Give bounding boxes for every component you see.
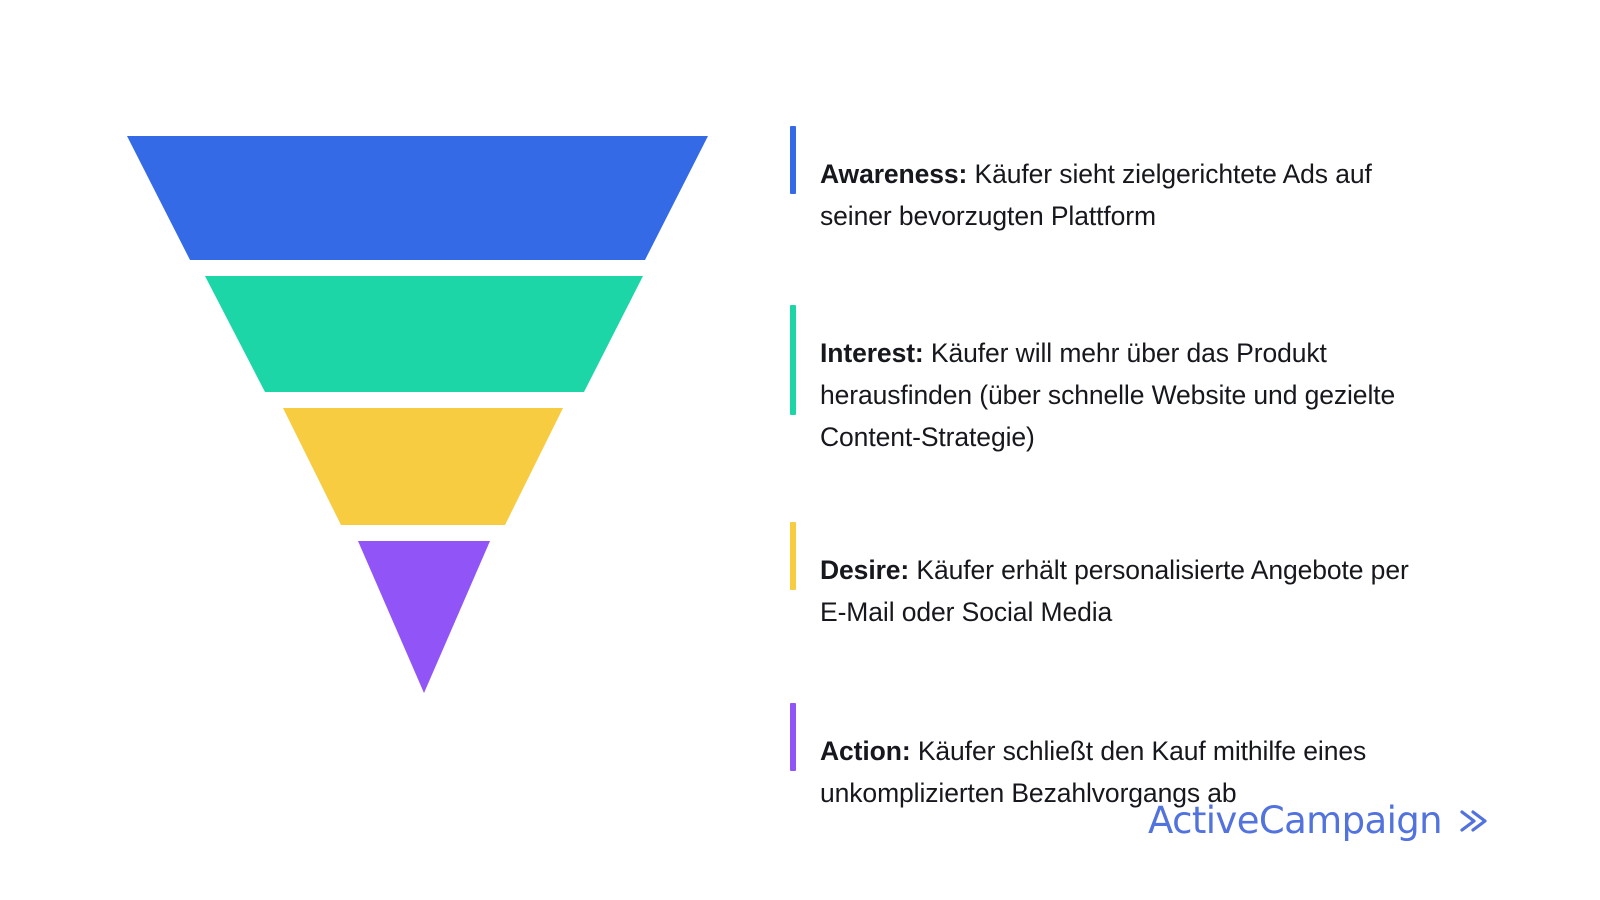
legend-lead-awareness: Awareness:	[820, 159, 967, 189]
legend-accent-bar-desire	[790, 522, 796, 590]
legend-lead-desire: Desire:	[820, 555, 909, 585]
legend-text-interest: Interest: Käufer will mehr über das Prod…	[820, 332, 1430, 458]
legend-accent-bar-action	[790, 703, 796, 771]
funnel-segment-interest	[205, 276, 643, 392]
legend-item-desire: Desire: Käufer erhält personalisierte An…	[790, 522, 1490, 659]
legend-list: Awareness: Käufer sieht zielgerichtete A…	[790, 126, 1490, 840]
brand-logo: ActiveCampaign	[1148, 799, 1490, 842]
funnel-segment-action	[358, 541, 490, 693]
funnel-graphic	[90, 110, 750, 720]
legend-item-awareness: Awareness: Käufer sieht zielgerichtete A…	[790, 126, 1490, 263]
funnel-svg	[90, 110, 750, 720]
legend-text-desire: Desire: Käufer erhält personalisierte An…	[820, 549, 1430, 633]
legend-accent-bar-awareness	[790, 126, 796, 194]
infographic-canvas: Awareness: Käufer sieht zielgerichtete A…	[0, 0, 1600, 900]
brand-wordmark: ActiveCampaign	[1148, 799, 1442, 842]
legend-body-desire: Käufer erhält personalisierte Angebote p…	[820, 555, 1409, 627]
legend-accent-bar-interest	[790, 305, 796, 415]
legend-lead-interest: Interest:	[820, 338, 924, 368]
funnel-segment-desire	[283, 408, 563, 525]
legend-lead-action: Action:	[820, 736, 911, 766]
legend-item-interest: Interest: Käufer will mehr über das Prod…	[790, 305, 1490, 484]
double-chevron-right-icon	[1456, 804, 1490, 838]
funnel-segment-awareness	[127, 136, 708, 260]
legend-text-awareness: Awareness: Käufer sieht zielgerichtete A…	[820, 153, 1430, 237]
